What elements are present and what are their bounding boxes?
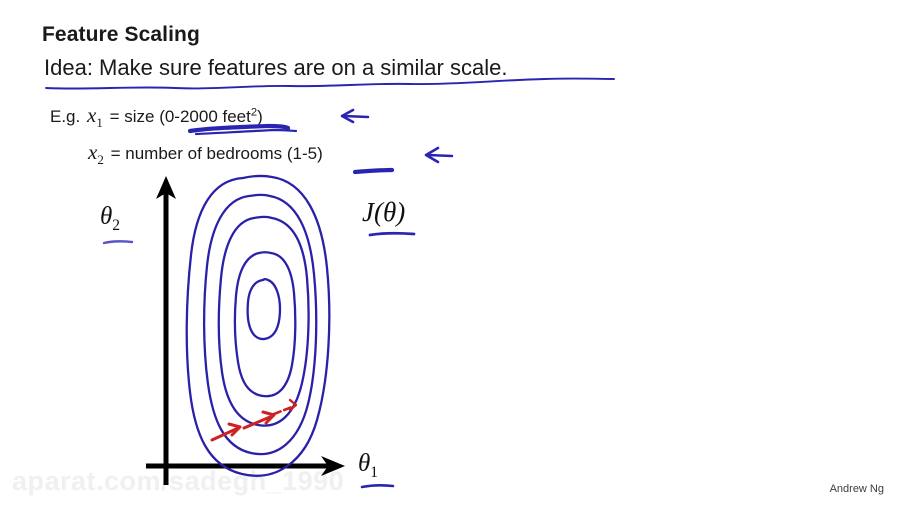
author-credit: Andrew Ng [830,483,884,495]
page-title: Feature Scaling [42,23,200,47]
gradient-descent-arrow-3 [274,407,292,414]
contour-level-3 [219,217,309,426]
equals-sign-2: = [111,144,121,163]
arrow-left-example-1-head [342,110,353,122]
gradient-descent-arrow-3-head [290,400,296,410]
idea-statement: Idea: Make sure features are on a simila… [44,55,507,81]
y-axis-arrowhead [156,176,176,199]
example-1-close-paren: ) [257,107,263,126]
contour-level-1-minimum [248,279,280,339]
example-prefix: E.g. [50,107,80,126]
watermark: aparat.com/sadegh_1990 [12,466,344,497]
arrow-left-example-2-head [426,148,438,162]
contour-level-2 [235,252,295,396]
cost-function-label: J(θ) [362,197,405,228]
slide-canvas: Feature Scaling Idea: Make sure features… [0,0,900,505]
equals-sign-1: = [110,107,120,126]
arrow-left-example-1 [344,116,368,117]
example-1-text: size (0-2000 feet [124,107,251,126]
x-axis-label-theta1: θ1 [358,450,378,482]
underline-jtheta-label [370,233,414,235]
example-2-text: number of bedrooms (1-5) [125,144,322,163]
underline-bedrooms-range [355,170,392,172]
example-line-2: x2 = number of bedrooms (1-5) [86,140,323,168]
gradient-descent-arrow-2 [244,417,270,428]
gradient-descent-arrow-1-head [229,424,240,435]
y-axis-label-theta2: θ2 [100,203,120,235]
gradient-descent-arrow-1 [212,429,236,440]
arrow-left-example-2 [428,155,452,156]
contour-level-5 [187,176,330,476]
variable-x1: x1 [85,103,105,127]
example-line-1: E.g. x1 = size (0-2000 feet2) [50,103,263,131]
underline-theta2-label [104,241,132,243]
contour-level-4 [204,195,316,454]
gradient-descent-arrow-2-head [263,412,274,423]
underline-theta1-label [362,485,393,487]
variable-x2: x2 [86,140,106,164]
